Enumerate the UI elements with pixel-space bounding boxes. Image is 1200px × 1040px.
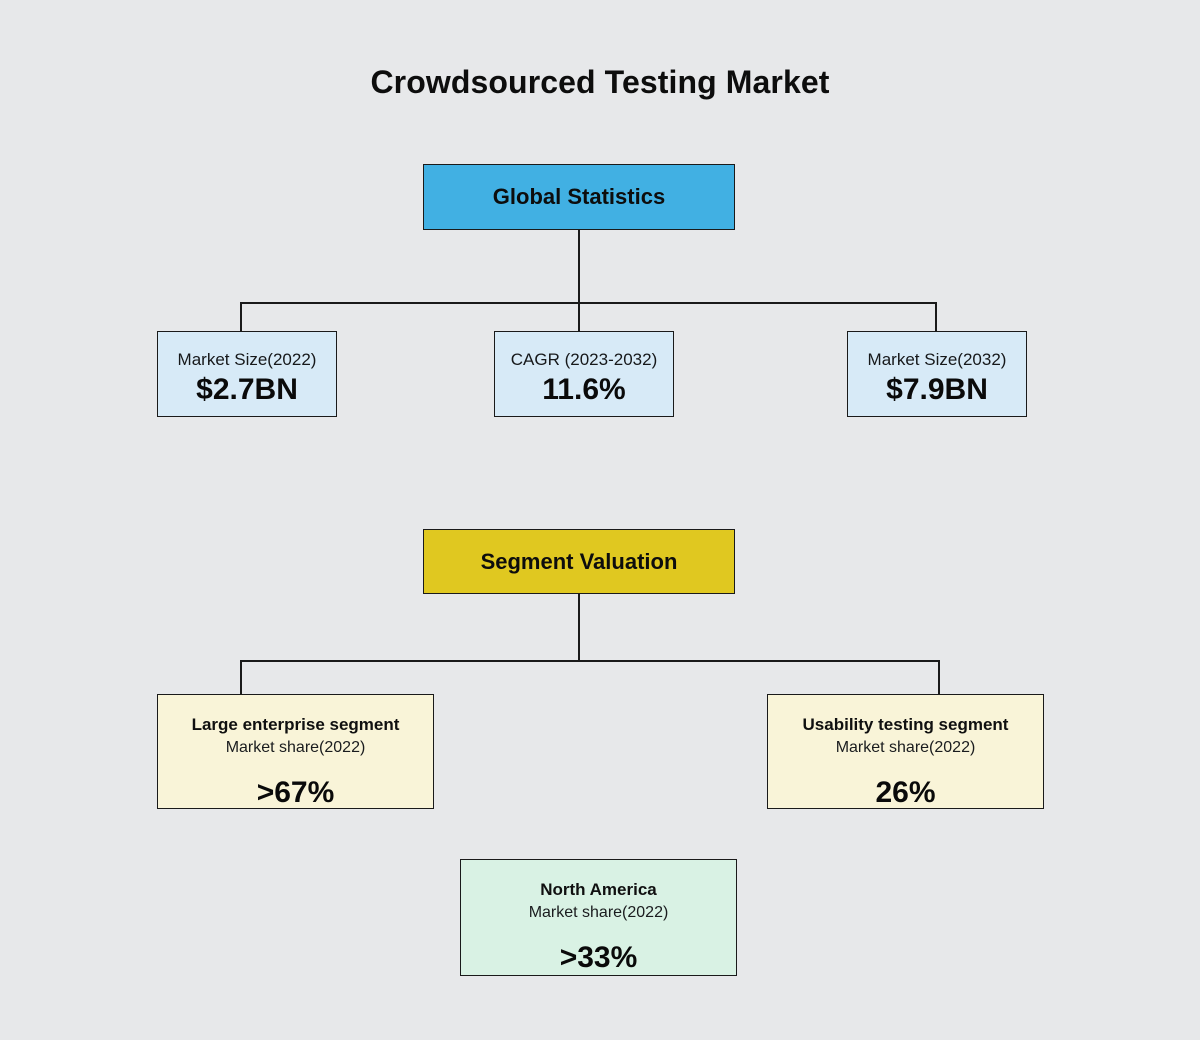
node-global-statistics-label: Global Statistics (493, 186, 665, 208)
connector-global-drop-right (935, 302, 937, 332)
node-market-size-2022[interactable]: Market Size(2022) $2.7BN (157, 331, 337, 417)
node-north-america-label: Market share(2022) (529, 903, 669, 924)
node-market-size-2032-label: Market Size(2032) (868, 350, 1007, 370)
node-usability-testing-segment-name: Usability testing segment (803, 715, 1009, 735)
node-market-size-2022-value: $2.7BN (196, 372, 298, 408)
node-segment-valuation[interactable]: Segment Valuation (423, 529, 735, 594)
connector-global-bus (240, 302, 936, 304)
node-usability-testing-segment-value: 26% (875, 775, 935, 811)
connector-segment-bus (240, 660, 940, 662)
node-segment-valuation-label: Segment Valuation (481, 551, 678, 573)
node-market-size-2032-value: $7.9BN (886, 372, 988, 408)
node-global-statistics[interactable]: Global Statistics (423, 164, 735, 230)
node-north-america[interactable]: North America Market share(2022) >33% (460, 859, 737, 976)
page-title: Crowdsourced Testing Market (0, 64, 1200, 101)
node-usability-testing-segment-label: Market share(2022) (836, 738, 976, 759)
connector-global-drop-middle (578, 302, 580, 332)
node-market-size-2032[interactable]: Market Size(2032) $7.9BN (847, 331, 1027, 417)
node-market-size-2022-label: Market Size(2022) (178, 350, 317, 370)
node-cagr-2023-2032[interactable]: CAGR (2023-2032) 11.6% (494, 331, 674, 417)
connector-segment-drop-right (938, 660, 940, 695)
connector-global-drop-left (240, 302, 242, 332)
node-north-america-name: North America (540, 880, 657, 900)
node-north-america-value: >33% (560, 940, 638, 976)
node-large-enterprise-segment-value: >67% (257, 775, 335, 811)
node-large-enterprise-segment-label: Market share(2022) (226, 738, 366, 759)
node-usability-testing-segment[interactable]: Usability testing segment Market share(2… (767, 694, 1044, 809)
connector-segment-drop-left (240, 660, 242, 695)
node-large-enterprise-segment[interactable]: Large enterprise segment Market share(20… (157, 694, 434, 809)
diagram-canvas: Crowdsourced Testing Market Global Stati… (0, 0, 1200, 1040)
node-large-enterprise-segment-name: Large enterprise segment (192, 715, 400, 735)
connector-global-trunk (578, 229, 580, 303)
node-cagr-2023-2032-value: 11.6% (542, 372, 625, 408)
node-cagr-2023-2032-label: CAGR (2023-2032) (511, 350, 657, 370)
connector-segment-trunk (578, 593, 580, 662)
